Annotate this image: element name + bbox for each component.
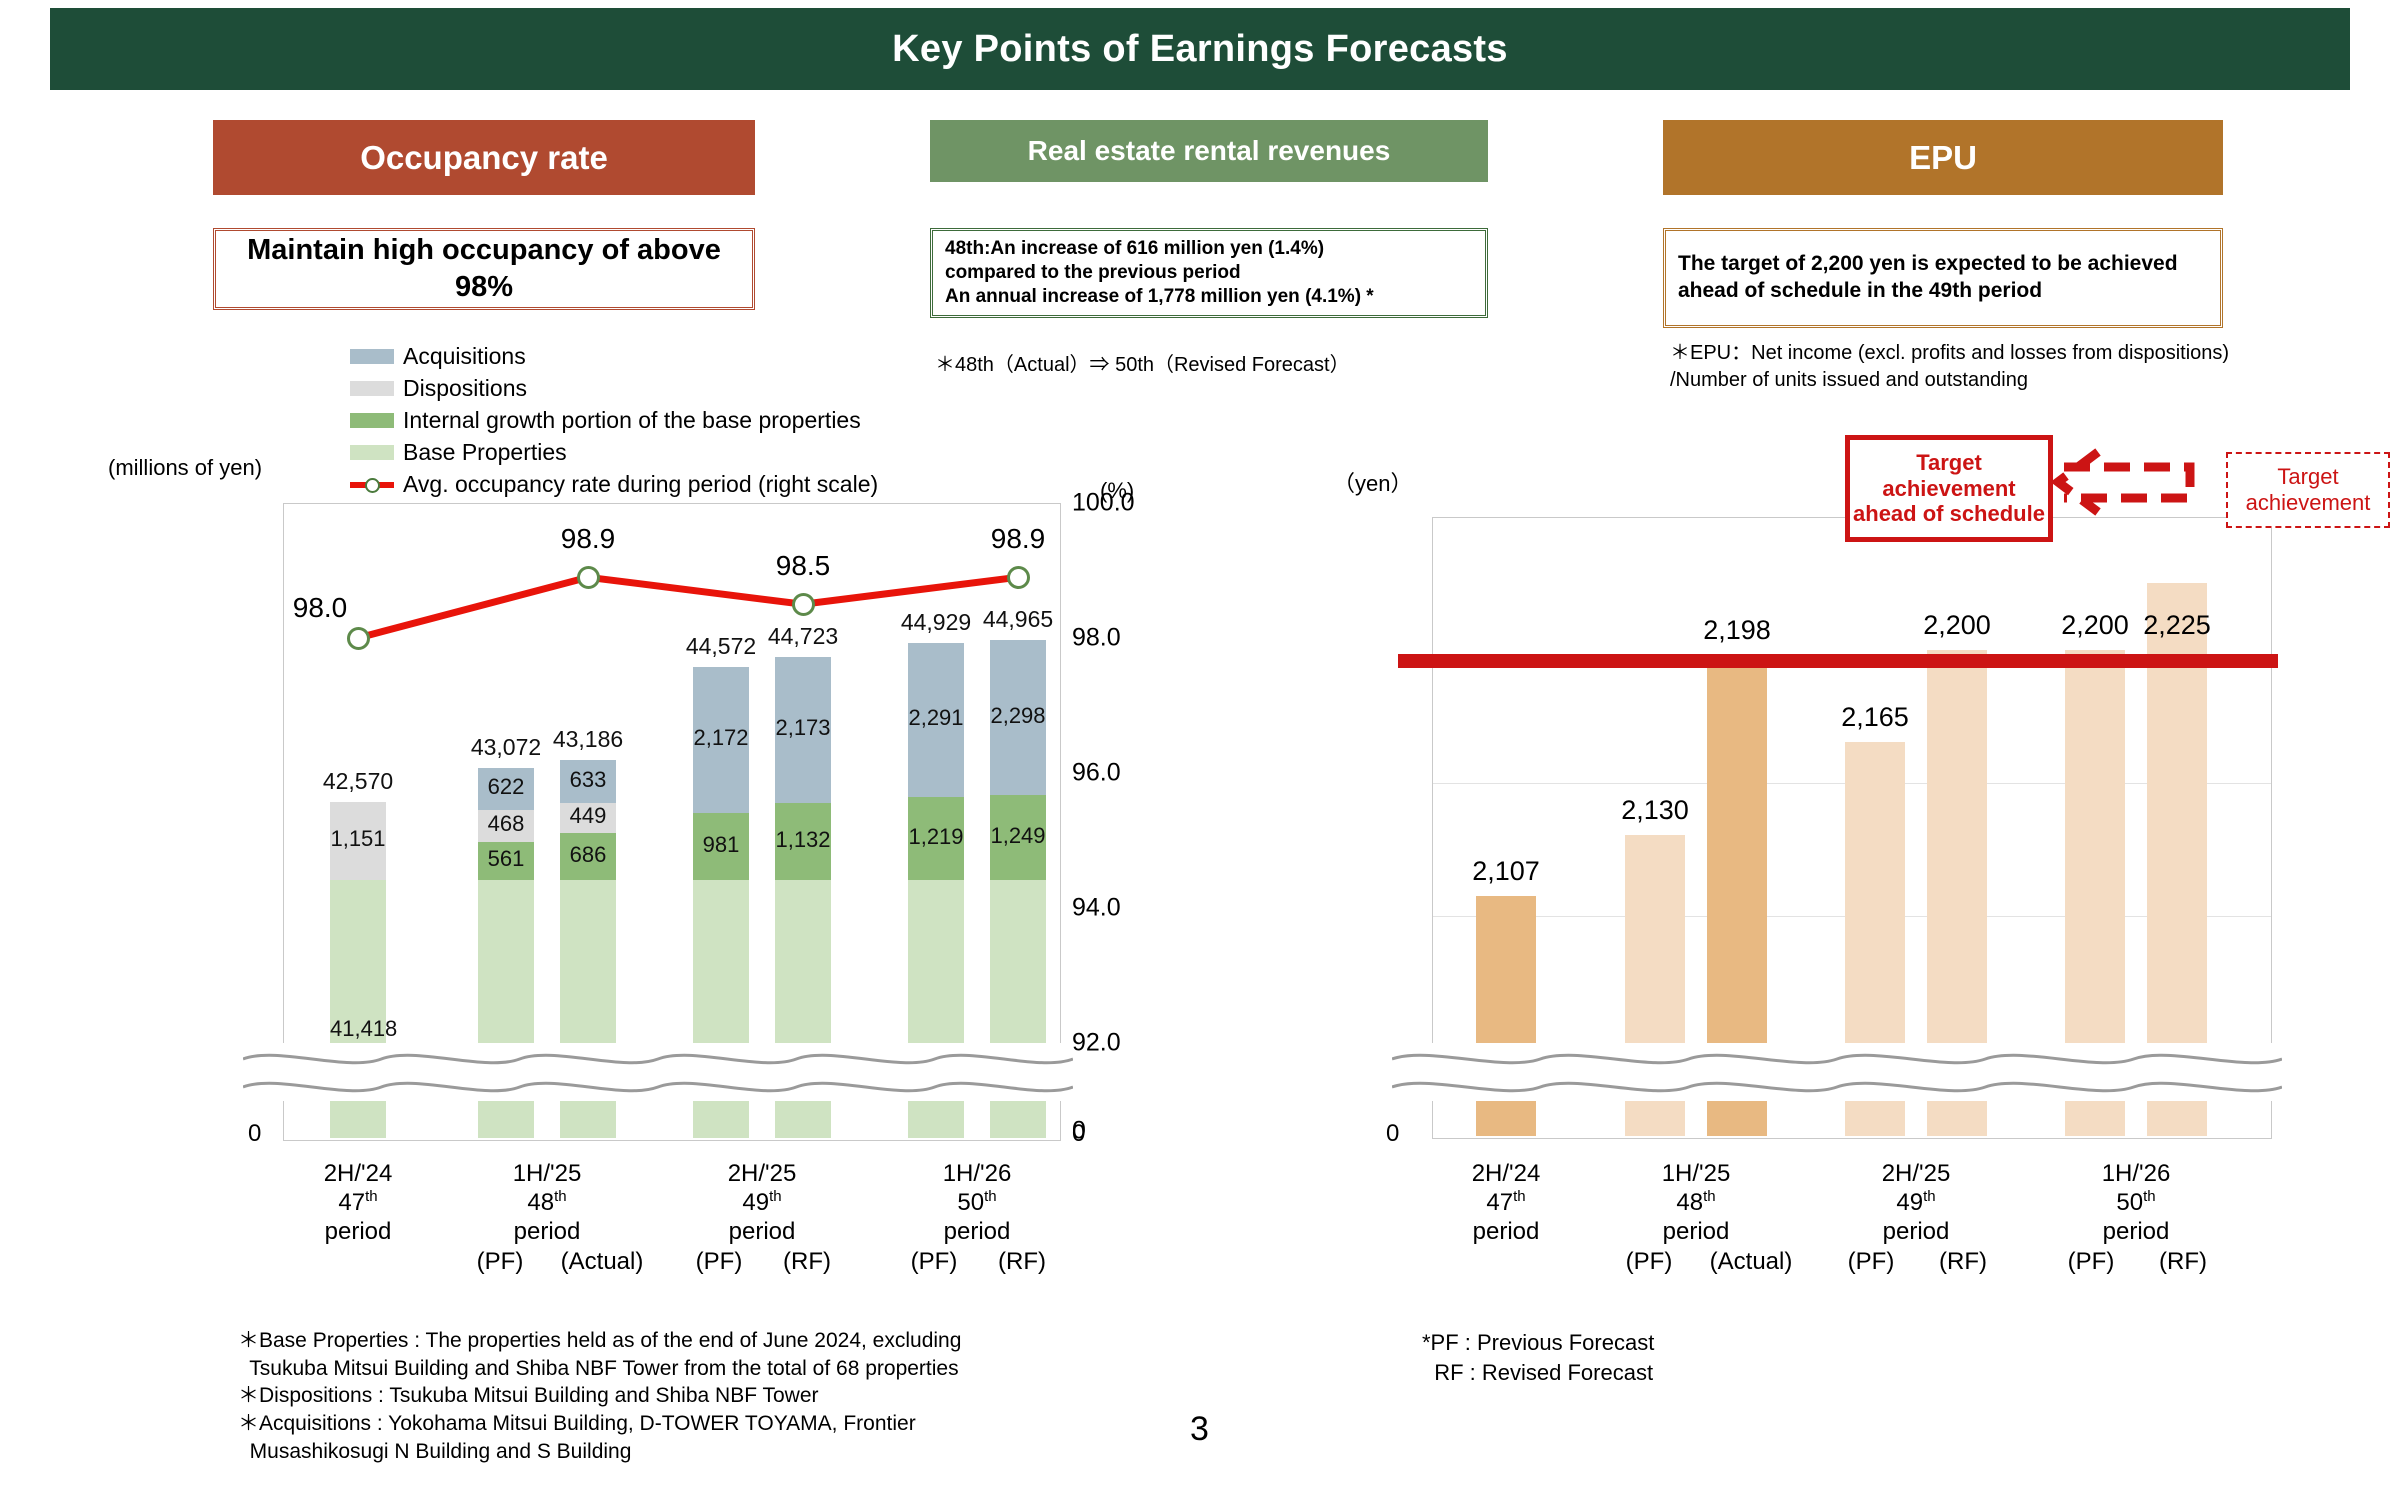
left-chart-segment-label: 449	[560, 803, 616, 829]
left-chart-segment-label: 2,291	[908, 705, 964, 731]
x-axis-unit: period	[1406, 1218, 1606, 1246]
occupancy-rate-label: 98.9	[958, 523, 1078, 555]
x-axis-ordinal: 49th	[1816, 1188, 2016, 1217]
right-chart-bar-label: 2,225	[2097, 610, 2257, 641]
left-chart-bar-total-label: 44,723	[733, 623, 873, 650]
left-chart-segment-label: 2,173	[775, 715, 831, 741]
footnote-line: ＊Acquisitions : Yokohama Mitsui Building…	[238, 1410, 1138, 1438]
x-axis-period: 2H/'24	[258, 1160, 458, 1188]
right-chart-bar-label: 2,198	[1657, 615, 1817, 646]
left-chart-axis-break-icon	[243, 1043, 1073, 1101]
footnote-line: *PF : Previous Forecast	[1422, 1328, 2022, 1358]
x-axis-period: 1H/'26	[2036, 1160, 2236, 1188]
footnote-line: Tsukuba Mitsui Building and Shiba NBF To…	[238, 1355, 1138, 1383]
left-chart-zero-right: 0	[1072, 1120, 1085, 1148]
x-axis-unit: period	[447, 1218, 647, 1246]
revenue-line-1: 48th:An increase of 616 million yen (1.4…	[945, 237, 1374, 261]
x-axis-kind-label: (RF)	[2123, 1248, 2243, 1276]
legend-item: Avg. occupancy rate during period (right…	[350, 470, 1030, 500]
occupancy-rate-marker	[347, 627, 370, 650]
card-heading-revenue: Real estate rental revenues	[930, 120, 1488, 182]
x-axis-ordinal: 50th	[877, 1188, 1077, 1217]
x-axis-period: 1H/'26	[877, 1160, 1077, 1188]
x-axis-unit: period	[1816, 1218, 2016, 1246]
legend-swatch-icon	[350, 445, 394, 460]
dashed-arrow-icon	[2040, 440, 2240, 540]
page-title: Key Points of Earnings Forecasts	[892, 28, 1508, 71]
right-chart-y-axis-unit: （yen）	[1333, 466, 1412, 498]
legend-item-label: Base Properties	[403, 438, 567, 468]
x-axis-kind-label: (RF)	[747, 1248, 867, 1276]
target-achievement-callout-label: Target achievement ahead of schedule	[1850, 450, 2048, 527]
x-axis-period: 2H/'24	[1406, 1160, 1606, 1188]
card-heading-revenue-label: Real estate rental revenues	[1028, 135, 1391, 167]
left-chart-segment-label: 981	[693, 832, 749, 858]
x-axis-ordinal: 47th	[1406, 1188, 1606, 1217]
left-chart-y2-tick: 98.0	[1072, 624, 1222, 653]
footnote-line: ＊Base Properties : The properties held a…	[238, 1327, 1138, 1355]
footnote-line: ＊Dispositions : Tsukuba Mitsui Building …	[238, 1382, 1138, 1410]
legend-item-label: Dispositions	[403, 374, 527, 404]
left-chart-segment-label: 1,151	[330, 826, 386, 852]
legend-item-label: Internal growth portion of the base prop…	[403, 406, 861, 436]
card-heading-epu-label: EPU	[1909, 139, 1977, 177]
right-chart-axis-break-icon	[1392, 1043, 2282, 1101]
x-axis-kind-label: (Actual)	[542, 1248, 662, 1276]
right-chart-bar-label: 2,107	[1426, 856, 1586, 887]
card-heading-epu: EPU	[1663, 120, 2223, 195]
footnote-line: Musashikosugi N Building and S Building	[238, 1438, 1138, 1466]
target-threshold-line	[1398, 654, 2278, 668]
revenue-line-3: An annual increase of 1,778 million yen …	[945, 285, 1374, 309]
x-axis-period: 1H/'25	[447, 1160, 647, 1188]
x-axis-ordinal: 48th	[1596, 1188, 1796, 1217]
left-chart-segment-label: 1,132	[775, 827, 831, 853]
x-axis-unit: period	[662, 1218, 862, 1246]
left-chart-segment-label: 1,219	[908, 824, 964, 850]
left-chart-segment-label: 468	[478, 811, 534, 837]
legend-item-label: Avg. occupancy rate during period (right…	[403, 470, 878, 500]
x-axis-unit: period	[1596, 1218, 1796, 1246]
x-axis-period: 2H/'25	[1816, 1160, 2016, 1188]
card-body-revenue-text: 48th:An increase of 616 million yen (1.4…	[933, 231, 1386, 316]
right-chart-zero: 0	[1386, 1120, 1399, 1148]
legend-item-label: Acquisitions	[403, 342, 526, 372]
left-chart-segment-label: 2,298	[990, 703, 1046, 729]
x-axis-unit: period	[258, 1218, 458, 1246]
x-axis-ordinal: 50th	[2036, 1188, 2236, 1217]
x-axis-kind-label: (RF)	[1903, 1248, 2023, 1276]
target-achievement-tag-label: Target achievement	[2228, 464, 2388, 517]
x-axis-category-label: 2H/'2549thperiod	[662, 1160, 862, 1246]
x-axis-period: 2H/'25	[662, 1160, 862, 1188]
page-number: 3	[1190, 1410, 1209, 1449]
left-chart-legend: AcquisitionsDispositionsInternal growth …	[350, 342, 1030, 501]
left-chart-bar-total-label: 42,570	[288, 768, 428, 795]
legend-swatch-icon	[350, 413, 394, 428]
x-axis-category-label: 2H/'2447thperiod	[258, 1160, 458, 1246]
legend-swatch-icon	[350, 381, 394, 396]
x-axis-category-label: 1H/'2548thperiod	[447, 1160, 647, 1246]
target-achievement-callout: Target achievement ahead of schedule	[1845, 435, 2053, 542]
left-chart-y2-tick: 100.0	[1072, 489, 1222, 518]
left-chart-segment-label: 633	[560, 767, 616, 793]
x-axis-category-label: 1H/'2650thperiod	[2036, 1160, 2236, 1246]
target-achievement-tag: Target achievement	[2226, 452, 2390, 528]
right-chart-footnotes: *PF : Previous Forecast RF : Revised For…	[1422, 1328, 2022, 1387]
occupancy-rate-label: 98.0	[260, 592, 380, 624]
x-axis-ordinal: 48th	[447, 1188, 647, 1217]
revenue-line-2: compared to the previous period	[945, 261, 1374, 285]
left-chart-segment-label: 561	[478, 846, 534, 872]
occupancy-rate-label: 98.5	[743, 550, 863, 582]
card-body-epu: The target of 2,200 yen is expected to b…	[1663, 228, 2223, 328]
x-axis-category-label: 2H/'2447thperiod	[1406, 1160, 1606, 1246]
epu-note-line-1: ＊EPU：Net income (excl. profits and losse…	[1670, 340, 2370, 367]
left-chart-y2-tick: 96.0	[1072, 759, 1222, 788]
epu-note: ＊EPU：Net income (excl. profits and losse…	[1670, 340, 2370, 394]
footnote-line: RF : Revised Forecast	[1422, 1358, 2022, 1388]
left-chart-y2-tick: 94.0	[1072, 894, 1222, 923]
left-chart-segment-label: 2,172	[693, 725, 749, 751]
left-chart-y-axis-unit: (millions of yen)	[108, 455, 262, 481]
occupancy-rate-label: 98.9	[528, 523, 648, 555]
card-body-epu-text: The target of 2,200 yen is expected to b…	[1666, 245, 2220, 311]
card-heading-occupancy-label: Occupancy rate	[360, 139, 608, 177]
x-axis-kind-label: (Actual)	[1691, 1248, 1811, 1276]
legend-item: Base Properties	[350, 438, 1030, 468]
card-heading-occupancy: Occupancy rate	[213, 120, 755, 195]
legend-swatch-icon	[350, 349, 394, 364]
epu-note-line-2: /Number of units issued and outstanding	[1670, 367, 2370, 394]
card-body-revenue: 48th:An increase of 616 million yen (1.4…	[930, 228, 1488, 318]
legend-item: Internal growth portion of the base prop…	[350, 406, 1030, 436]
left-chart-segment-label: 1,249	[990, 823, 1046, 849]
legend-item: Acquisitions	[350, 342, 1030, 372]
x-axis-ordinal: 47th	[258, 1188, 458, 1217]
left-chart-bar-total-label: 43,186	[518, 726, 658, 753]
left-chart-segment-label: 622	[478, 774, 534, 800]
left-chart-y2-tick: 92.0	[1072, 1029, 1222, 1058]
x-axis-category-label: 1H/'2548thperiod	[1596, 1160, 1796, 1246]
x-axis-kind-label: (RF)	[962, 1248, 1082, 1276]
x-axis-unit: period	[2036, 1218, 2236, 1246]
x-axis-period: 1H/'25	[1596, 1160, 1796, 1188]
card-body-occupancy: Maintain high occupancy of above 98%	[213, 228, 755, 310]
left-chart-footnotes: ＊Base Properties : The properties held a…	[238, 1327, 1138, 1466]
left-chart-bar-total-label: 44,965	[948, 606, 1088, 633]
card-body-occupancy-text: Maintain high occupancy of above 98%	[216, 226, 752, 312]
page-title-bar: Key Points of Earnings Forecasts	[50, 8, 2350, 90]
x-axis-category-label: 2H/'2549thperiod	[1816, 1160, 2016, 1246]
left-chart-segment-label: 41,418	[330, 1016, 386, 1042]
left-chart-segment-label: 686	[560, 842, 616, 868]
x-axis-ordinal: 49th	[662, 1188, 862, 1217]
legend-line-marker-icon	[350, 477, 394, 492]
legend-item: Dispositions	[350, 374, 1030, 404]
left-chart-zero-left: 0	[248, 1120, 261, 1148]
x-axis-category-label: 1H/'2650thperiod	[877, 1160, 1077, 1246]
x-axis-unit: period	[877, 1218, 1077, 1246]
left-chart-y2-tick: 0	[1072, 1117, 1222, 1146]
right-chart-bar-label: 2,200	[1877, 610, 2037, 641]
